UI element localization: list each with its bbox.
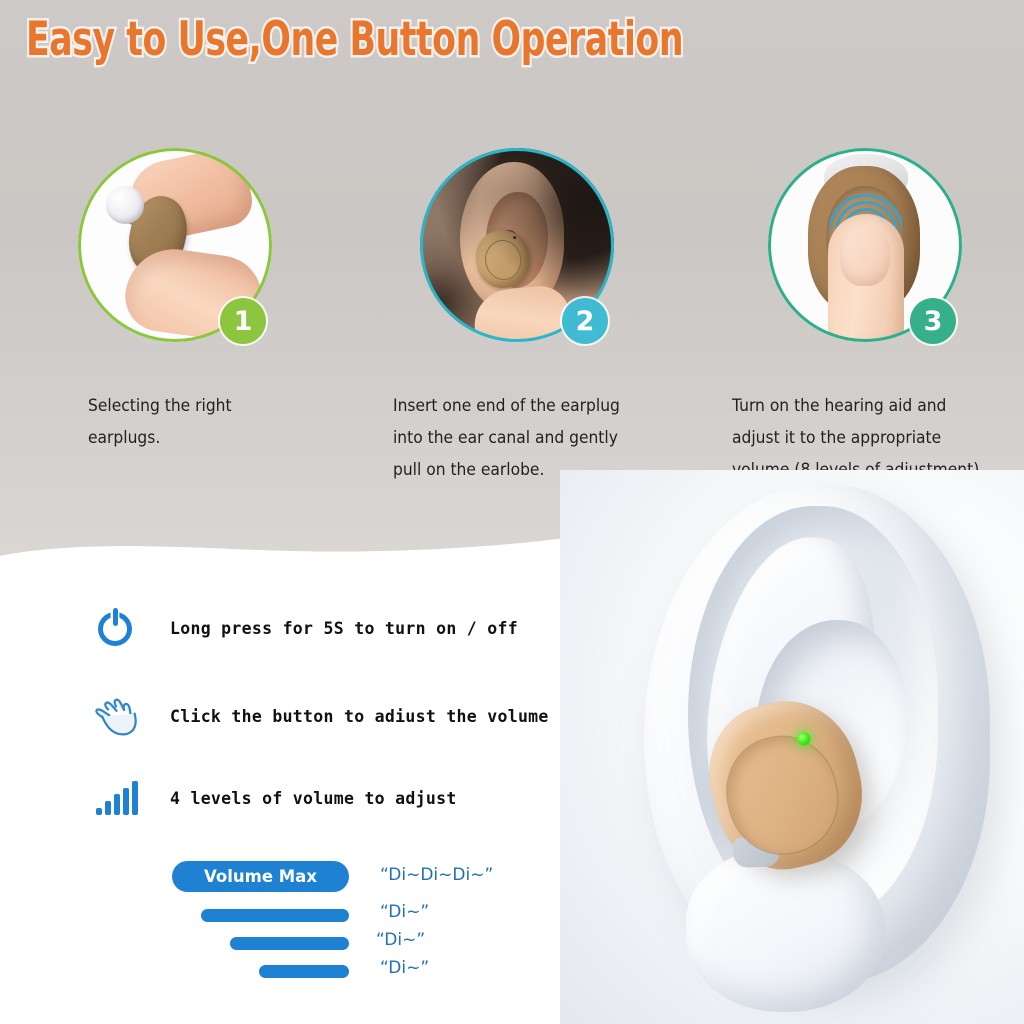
beep-label-2: “Di~” — [380, 902, 429, 922]
volume-max-pill: Volume Max — [172, 861, 349, 892]
step-1-number: 1 — [234, 306, 253, 337]
feature-row-click: Click the button to adiust the volume — [92, 693, 549, 739]
step-1-badge: 1 — [220, 298, 266, 344]
finger-pressing — [828, 214, 904, 342]
caption-line: Selecting the right — [88, 390, 370, 422]
step-3-figure: 3 — [768, 148, 968, 348]
caption-line: Insert one end of the earplug — [393, 390, 703, 422]
step-2-badge: 2 — [562, 298, 608, 344]
step-2-number: 2 — [576, 306, 595, 337]
feature-row-levels: 4 levels of volume to adjust — [92, 775, 457, 821]
earplug-button-ring — [483, 238, 524, 283]
feature-text-power: Long press for 5S to turn on / off — [170, 619, 518, 638]
feature-row-power: Long press for 5S to turn on / off — [92, 605, 518, 651]
hearing-aid-in-ear-render — [560, 470, 1024, 1024]
step-1-caption: Selecting the right earplugs. — [88, 390, 370, 454]
power-icon — [92, 605, 150, 651]
volume-bar-4 — [259, 965, 349, 978]
volume-max-label: Volume Max — [204, 867, 317, 886]
earplug-mic-hole — [513, 236, 516, 239]
feature-text-levels: 4 levels of volume to adjust — [170, 789, 457, 808]
step-3-number: 3 — [924, 306, 943, 337]
infographic-canvas: Easy to Use,One Button Operation 1 — [0, 0, 1024, 1024]
caption-line: into the ear canal and gently — [393, 422, 703, 454]
step-3-badge: 3 — [910, 298, 956, 344]
volume-level-ladder: Volume Max “Di~Di~Di~” “Di~” “Di~” “Di~” — [172, 861, 532, 991]
beep-label-3: “Di~” — [376, 930, 425, 950]
page-title: Easy to Use,One Button Operation — [26, 14, 683, 66]
beep-label-4: “Di~” — [380, 958, 429, 978]
caption-line: Turn on the hearing aid and — [732, 390, 1014, 422]
earplug-dome-tip — [106, 186, 144, 224]
signal-bars-icon — [92, 775, 150, 821]
caption-line: adjust it to the appropriate — [732, 422, 1014, 454]
feature-text-click: Click the button to adiust the volume — [170, 707, 549, 726]
step-1-figure: 1 — [78, 148, 278, 348]
beep-label-1: “Di~Di~Di~” — [380, 865, 493, 885]
step-2-figure: 2 — [420, 148, 620, 348]
fingernail — [840, 224, 890, 286]
ear-lobe — [686, 848, 886, 1012]
volume-bar-2 — [201, 909, 349, 922]
volume-bar-3 — [230, 937, 349, 950]
caption-line: earplugs. — [88, 422, 370, 454]
pointing-hand-cursor-icon — [92, 693, 150, 739]
